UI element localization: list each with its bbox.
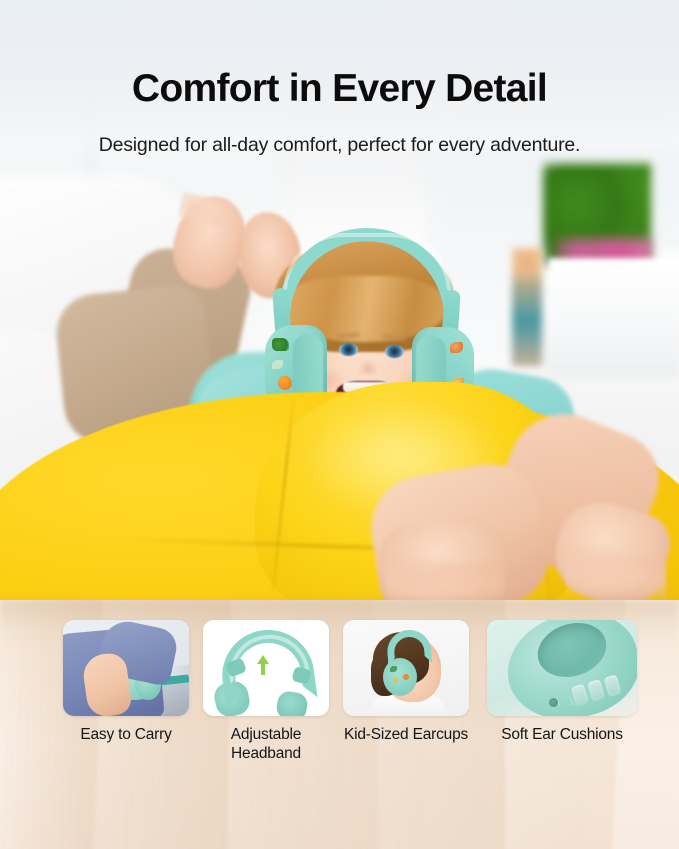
feature-thumbnail-kid-sized-earcups[interactable] — [343, 620, 469, 716]
child-eye-right — [385, 345, 404, 358]
background-toy — [512, 248, 542, 366]
sticker-right-upper-icon — [450, 342, 463, 353]
feature-thumbnail-easy-to-carry[interactable] — [63, 620, 189, 716]
feature-caption: Easy to Carry — [63, 725, 189, 744]
feature-item-soft-ear-cushions[interactable]: Soft Ear Cushions — [487, 620, 637, 744]
feature-caption: Kid-Sized Earcups — [343, 725, 469, 744]
headphone-band-highlight — [283, 233, 451, 293]
product-feature-page: Comfort in Every Detail Designed for all… — [0, 0, 679, 849]
thumb3-earcup — [383, 658, 417, 696]
feature-caption: Adjustable Headband — [203, 725, 329, 764]
up-arrow-icon — [255, 654, 271, 676]
page-subtitle: Designed for all-day comfort, perfect fo… — [0, 134, 679, 157]
feature-caption: Soft Ear Cushions — [487, 725, 637, 744]
child-fingers-right — [566, 548, 666, 602]
orange-dot-sticker-icon — [278, 376, 292, 390]
plant-pot — [548, 258, 679, 378]
feature-thumbnail-soft-ear-cushions[interactable] — [487, 620, 637, 716]
feature-item-adjustable-headband[interactable]: Adjustable Headband — [203, 620, 329, 764]
feature-thumbnail-adjustable-headband[interactable] — [203, 620, 329, 716]
feature-item-easy-to-carry[interactable]: Easy to Carry — [63, 620, 189, 744]
header-block: Comfort in Every Detail Designed for all… — [0, 0, 679, 172]
feature-strip: Easy to Carry Adjustable Headband — [0, 620, 679, 780]
thumb4-button-2 — [587, 679, 605, 702]
page-title: Comfort in Every Detail — [0, 69, 679, 110]
leaf-sticker-icon — [272, 360, 283, 369]
thumb3-dino-sticker-icon — [390, 666, 397, 672]
child-nose — [358, 358, 378, 374]
thumb4-button-3 — [604, 674, 622, 697]
thumb3-yellow-sticker-icon — [393, 678, 398, 683]
feature-item-kid-sized-earcups[interactable]: Kid-Sized Earcups — [343, 620, 469, 744]
dinosaur-sticker-icon — [272, 338, 289, 351]
thumb3-orange-sticker-icon — [403, 674, 409, 680]
child-eye-left — [339, 343, 358, 356]
thumb4-audio-port-icon — [549, 698, 558, 707]
